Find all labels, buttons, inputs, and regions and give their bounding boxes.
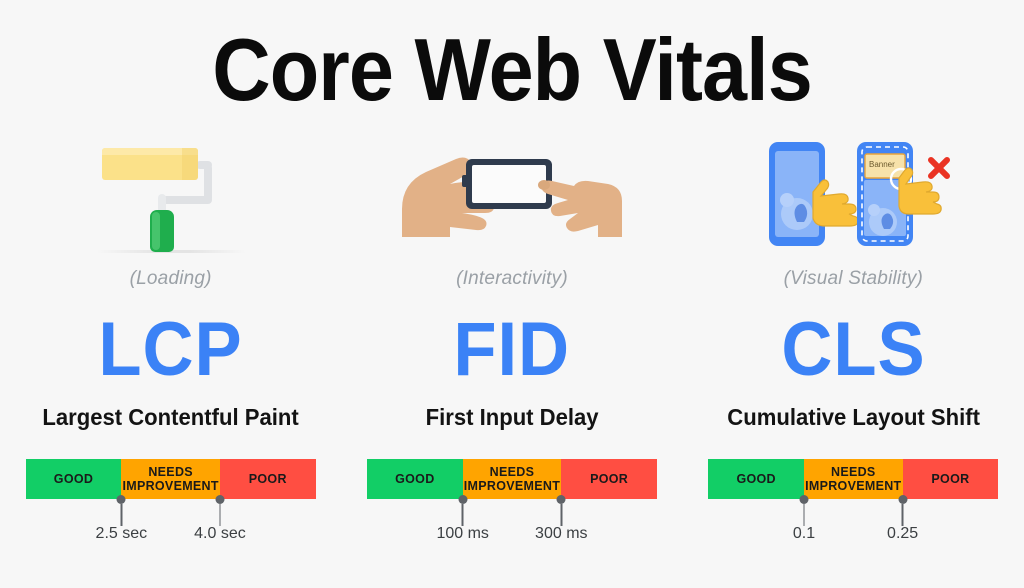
threshold-labels-cls: 0.1 0.25 <box>708 525 998 549</box>
metric-subtitle-fid: (Interactivity) <box>456 268 568 290</box>
page-title: Core Web Vitals <box>41 26 983 114</box>
segment-good-fid: GOOD <box>367 459 463 499</box>
paint-roller-icon <box>96 134 246 254</box>
marker-stem <box>902 504 904 526</box>
right-hand-shape <box>542 181 622 238</box>
segment-poor-fid: POOR <box>561 459 657 499</box>
left-pointing-hand-icon <box>813 180 858 226</box>
threshold-marker-1-cls <box>800 499 809 526</box>
roller-arm-bottom <box>162 196 212 204</box>
threshold-markers-lcp <box>26 499 316 525</box>
threshold-bar-segments-lcp: GOOD NEEDS IMPROVEMENT POOR <box>26 459 316 499</box>
phone-side-button <box>462 175 468 187</box>
threshold-bar-lcp: GOOD NEEDS IMPROVEMENT POOR 2.5 sec 4.0 … <box>26 459 316 549</box>
marker-stem <box>462 504 464 526</box>
banner-label: Banner <box>869 160 895 169</box>
segment-needs-improvement-lcp: NEEDS IMPROVEMENT <box>121 459 220 499</box>
segment-poor-lcp: POOR <box>220 459 316 499</box>
marker-dot-icon <box>117 495 126 504</box>
threshold-bar-segments-fid: GOOD NEEDS IMPROVEMENT POOR <box>367 459 657 499</box>
metric-column-cls: Banner (Visual Stability) CLS Cumulativ <box>683 130 1024 549</box>
marker-stem <box>560 504 562 526</box>
metric-acronym-fid: FID <box>454 312 571 388</box>
threshold-marker-1-lcp <box>117 499 126 526</box>
threshold-value-2-cls: 0.25 <box>887 525 918 543</box>
threshold-value-1-lcp: 2.5 sec <box>96 525 148 543</box>
metric-fullname-fid: First Input Delay <box>425 404 598 431</box>
threshold-bar-fid: GOOD NEEDS IMPROVEMENT POOR 100 ms 300 m… <box>367 459 657 549</box>
roller-handle-highlight <box>152 212 160 250</box>
threshold-labels-lcp: 2.5 sec 4.0 sec <box>26 525 316 549</box>
threshold-marker-2-fid <box>557 499 566 526</box>
metric-fullname-cls: Cumulative Layout Shift <box>727 404 980 431</box>
hands-phone-svg <box>392 139 632 249</box>
marker-dot-icon <box>557 495 566 504</box>
threshold-marker-2-lcp <box>215 499 224 526</box>
threshold-bar-segments-cls: GOOD NEEDS IMPROVEMENT POOR <box>708 459 998 499</box>
phone-screen <box>472 165 546 203</box>
error-cross-icon <box>931 160 947 176</box>
layout-shift-phones-icon: Banner <box>753 134 953 254</box>
marker-stem <box>121 504 123 526</box>
threshold-value-2-fid: 300 ms <box>535 525 587 543</box>
marker-dot-icon <box>800 495 809 504</box>
metric-column-lcp: (Loading) LCP Largest Contentful Paint G… <box>0 130 341 549</box>
metric-subtitle-cls: (Visual Stability) <box>784 268 923 290</box>
threshold-labels-fid: 100 ms 300 ms <box>367 525 657 549</box>
marker-stem <box>803 504 805 526</box>
segment-good-lcp: GOOD <box>26 459 122 499</box>
threshold-value-1-cls: 0.1 <box>793 525 815 543</box>
metric-acronym-cls: CLS <box>781 312 925 388</box>
threshold-bar-cls: GOOD NEEDS IMPROVEMENT POOR 0.1 0.25 <box>708 459 998 549</box>
segment-needs-improvement-fid: NEEDS IMPROVEMENT <box>463 459 562 499</box>
metric-subtitle-lcp: (Loading) <box>130 268 212 290</box>
threshold-marker-1-fid <box>458 499 467 526</box>
threshold-marker-2-cls <box>898 499 907 526</box>
threshold-markers-fid <box>367 499 657 525</box>
cls-icon-slot: Banner <box>683 130 1024 258</box>
marker-stem <box>219 504 221 526</box>
threshold-value-1-fid: 100 ms <box>436 525 488 543</box>
metric-acronym-lcp: LCP <box>99 312 243 388</box>
layout-shift-svg: Banner <box>753 134 953 254</box>
segment-needs-improvement-cls: NEEDS IMPROVEMENT <box>804 459 903 499</box>
segment-good-cls: GOOD <box>708 459 804 499</box>
threshold-value-2-lcp: 4.0 sec <box>194 525 246 543</box>
threshold-markers-cls <box>708 499 998 525</box>
metric-fullname-lcp: Largest Contentful Paint <box>42 404 298 431</box>
metric-column-fid: (Interactivity) FID First Input Delay GO… <box>341 130 682 549</box>
marker-dot-icon <box>215 495 224 504</box>
fid-icon-slot <box>341 130 682 258</box>
roller-head-shade <box>182 148 198 180</box>
marker-dot-icon <box>458 495 467 504</box>
lcp-icon-slot <box>0 130 341 258</box>
fingertip <box>538 180 550 190</box>
metrics-columns: (Loading) LCP Largest Contentful Paint G… <box>0 130 1024 549</box>
segment-poor-cls: POOR <box>903 459 999 499</box>
hands-tapping-phone-icon <box>392 139 632 249</box>
marker-dot-icon <box>898 495 907 504</box>
